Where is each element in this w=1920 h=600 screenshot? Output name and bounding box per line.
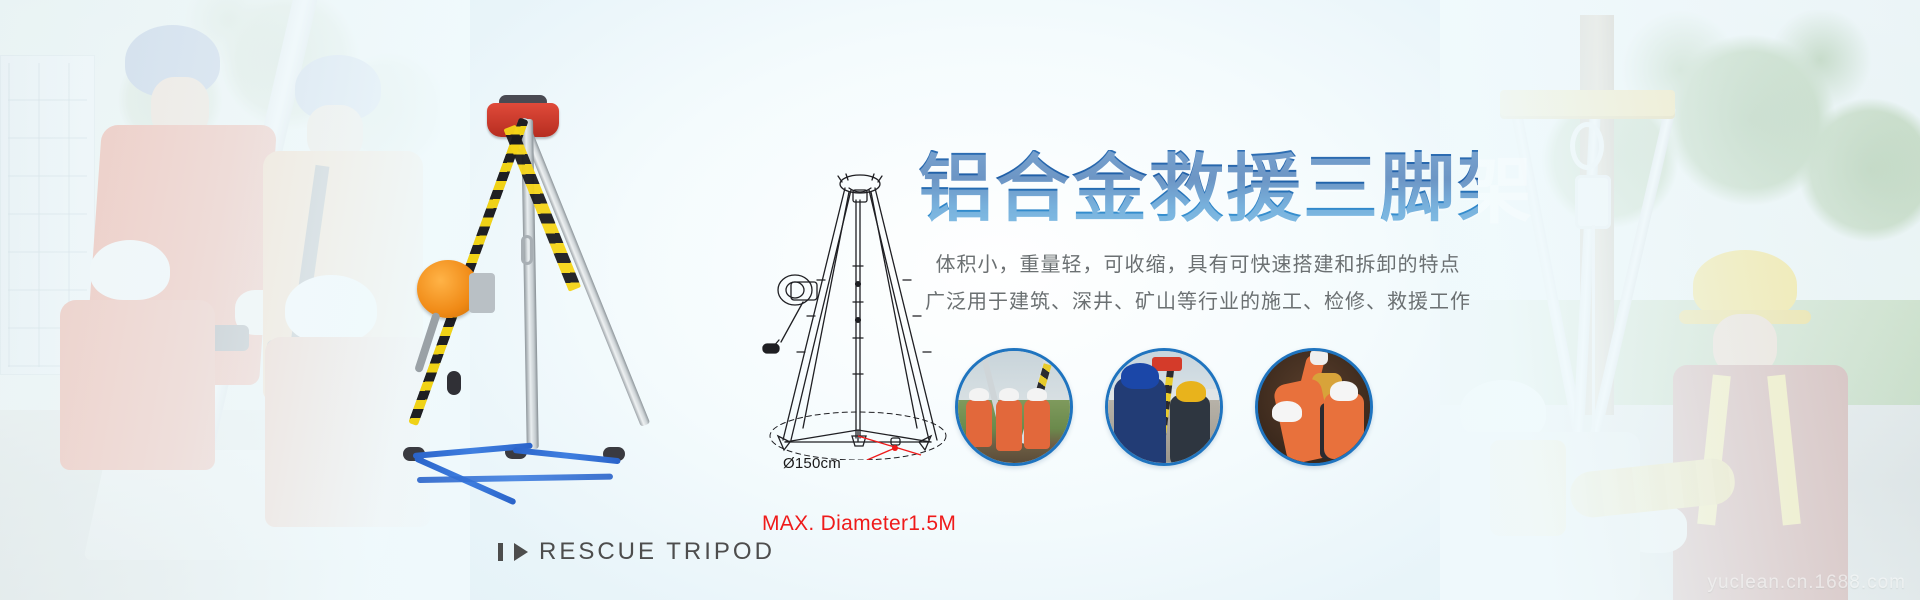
thumb-worker [996,399,1022,451]
thumb-helmet [969,388,989,401]
play-marker-bar-icon [498,543,503,561]
thumb-worker [1170,395,1210,466]
subtitle-line-1: 体积小，重量轻，可收缩，具有可快速搭建和拆卸的特点 [918,247,1478,284]
winch-crank-knob [447,371,461,395]
product-photo-tripod [395,95,640,470]
tripod-carabiner-icon [521,235,533,265]
thumbnail-field-well-rescue-training[interactable] [955,348,1073,466]
page-title: 铝合金救援三脚架 [918,150,1478,227]
max-diameter-annotation: MAX. Diameter1.5M [762,512,956,536]
thumbnail-gallery [955,348,1373,466]
thumb-glove [1310,349,1328,365]
play-marker-icon [514,543,528,561]
diameter-dimension-label: Ø150cm [783,455,841,472]
thumb-helmet [999,388,1019,401]
thumb-worker [966,399,992,447]
thumb-worker [1024,399,1050,449]
subtitle-line-2: 广泛用于建筑、深井、矿山等行业的施工、检修、救援工作 [918,284,1478,321]
thumb-helmet [1176,381,1206,402]
right-fade-overlay [1440,0,1920,600]
product-caption-text: RESCUE TRIPOD [539,538,775,566]
thumb-helmet [1121,363,1159,389]
thumb-helmet [1027,388,1047,401]
thumbnail-confined-space-rescue[interactable] [1255,348,1373,466]
product-caption: RESCUE TRIPOD [498,538,775,566]
watermark-text: yuclean.cn.1688.com [1707,572,1906,594]
thumbnail-site-tripod-setup[interactable] [1105,348,1223,466]
thumb-helmet [1330,381,1358,401]
thumb-helmet [1272,401,1302,422]
tripod-hazard-stripe [503,125,581,292]
headline-block: 铝合金救援三脚架 体积小，重量轻，可收缩，具有可快速搭建和拆卸的特点 广泛用于建… [918,150,1478,321]
winch-mount-plate [469,273,495,313]
rescue-tripod-banner: RESCUE TRIPOD [0,0,1920,600]
background-photo-right [1440,0,1920,600]
thumb-worker [1324,393,1364,459]
thumb-worker [1114,377,1166,466]
